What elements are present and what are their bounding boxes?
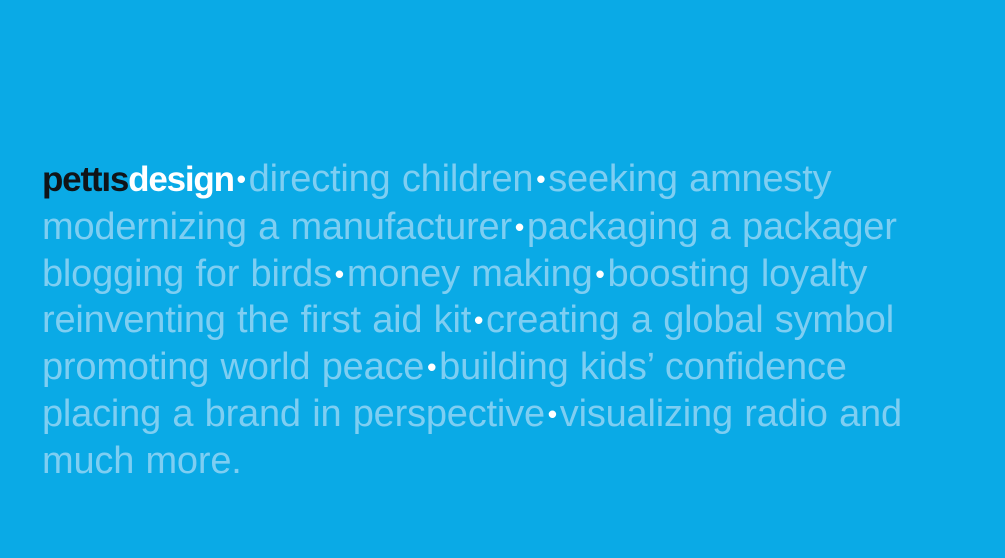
phrase-item: visualizing radio <box>560 393 828 435</box>
brand-logo-light: design <box>128 160 234 199</box>
phrase-item: directing children <box>249 158 534 200</box>
bullet-separator: • <box>512 212 527 242</box>
poster-canvas: pettısdesign•directing children•seeking … <box>0 0 1005 558</box>
bullet-separator: • <box>593 259 608 289</box>
brand-logo-dark: pettıs <box>42 160 128 199</box>
phrase-item: packaging a packager <box>527 206 897 248</box>
phrase-item: modernizing a manufacturer <box>42 206 512 248</box>
bullet-separator: • <box>234 164 249 194</box>
phrase-item: blogging for birds <box>42 253 332 295</box>
phrase-item: reinventing the first aid kit <box>42 299 471 341</box>
bullet-separator: • <box>424 352 439 382</box>
phrase-item: creating a global symbol <box>486 299 894 341</box>
phrase-item: building kids’ confidence <box>439 346 847 388</box>
bullet-separator: • <box>332 259 347 289</box>
bullet-separator: • <box>533 164 548 194</box>
brand-logo: pettısdesign <box>42 160 234 199</box>
bullet-separator: • <box>545 399 560 429</box>
phrase-item: seeking amnesty <box>548 158 831 200</box>
phrase-item: promoting world peace <box>42 346 424 388</box>
bullet-separator: • <box>471 305 486 335</box>
poster-text-block: pettısdesign•directing children•seeking … <box>42 156 977 485</box>
phrase-item: money making <box>347 253 593 295</box>
phrase-item: placing a brand in perspective <box>42 393 545 435</box>
phrase-item: boosting loyalty <box>607 253 867 295</box>
